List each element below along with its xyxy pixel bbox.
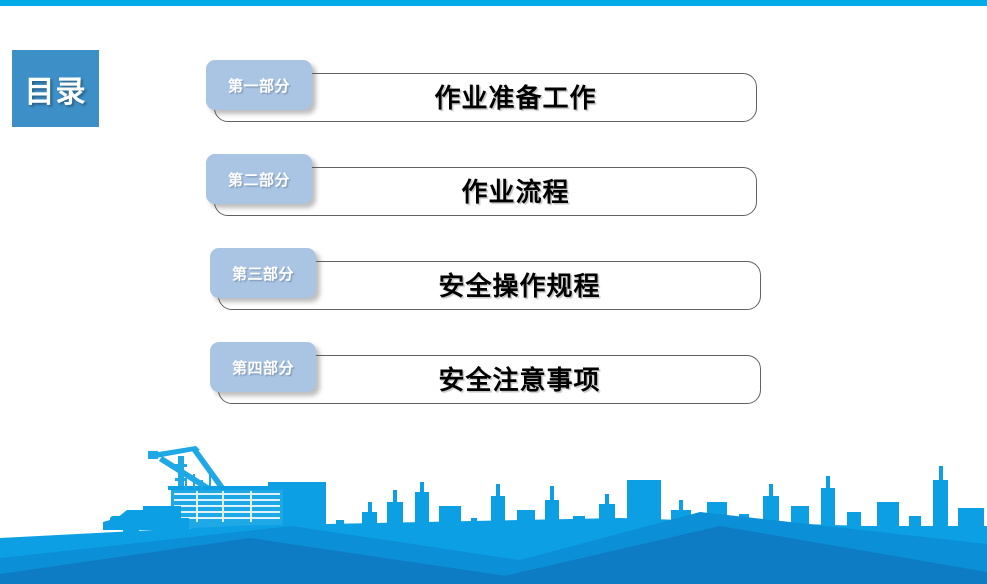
toc-row-title: 安全操作规程 — [438, 266, 600, 303]
cityscape-decoration — [0, 434, 987, 584]
toc-row-tag-label: 第三部分 — [232, 263, 294, 284]
toc-row-tag[interactable]: 第四部分 — [210, 342, 316, 392]
toc-row-tag[interactable]: 第一部分 — [206, 60, 312, 110]
toc-row-title: 作业流程 — [461, 172, 569, 209]
toc-row-tag-label: 第四部分 — [232, 357, 294, 378]
toc-row-tag-label: 第一部分 — [228, 75, 290, 96]
toc-row-title: 作业准备工作 — [434, 78, 596, 115]
toc-row-tag[interactable]: 第二部分 — [206, 154, 312, 204]
toc-row-title: 安全注意事项 — [438, 360, 600, 397]
toc-row-tag[interactable]: 第三部分 — [210, 248, 316, 298]
toc-row-tag-label: 第二部分 — [228, 169, 290, 190]
